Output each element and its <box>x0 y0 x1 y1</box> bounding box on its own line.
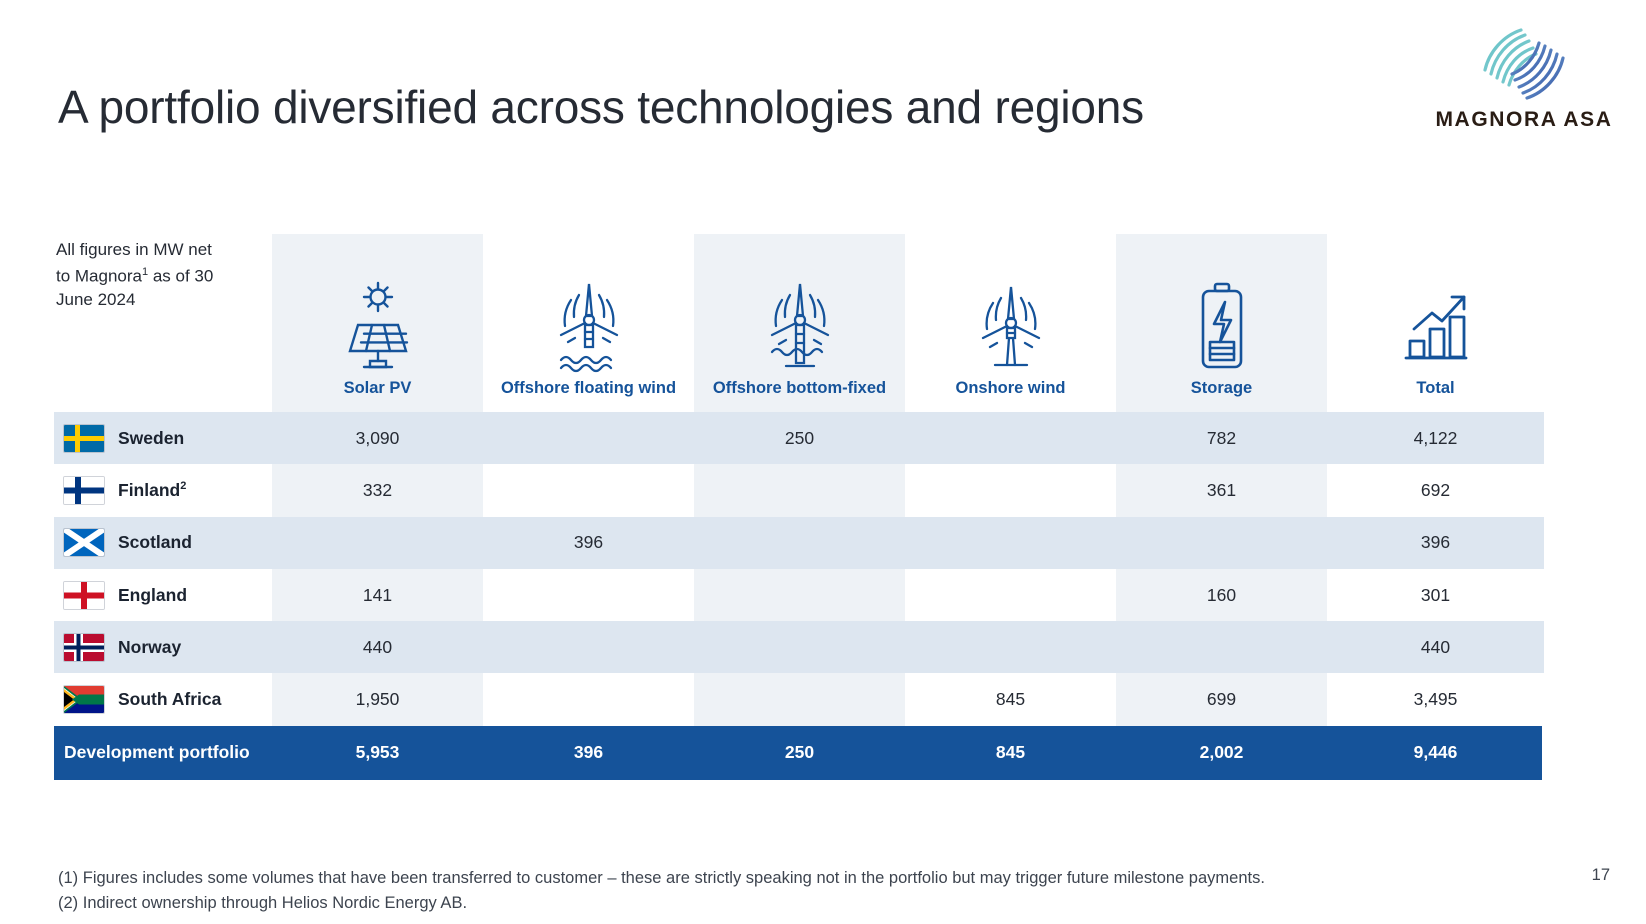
magnora-wing-logo-icon <box>1465 24 1583 104</box>
column-header-label: Solar PV <box>344 379 412 398</box>
column-header-total[interactable]: Total <box>1327 234 1544 412</box>
column-header-onshore-wind[interactable]: Onshore wind <box>905 234 1116 412</box>
cell-storage: 361 <box>1116 464 1327 516</box>
logo-wordmark: MAGNORA ASA <box>1424 108 1624 132</box>
footnote-1: (1) Figures includes some volumes that h… <box>58 866 1265 891</box>
flag-england-icon <box>64 582 104 609</box>
page-number: 17 <box>1592 866 1610 885</box>
caption-line-1: All figures in MW net <box>56 240 212 259</box>
total-row-label: Development portfolio <box>54 726 272 780</box>
portfolio-table: All figures in MW net to Magnora1 as of … <box>54 234 1542 780</box>
cell-offshore-bottom-fixed <box>694 464 905 516</box>
column-header-label: Total <box>1416 379 1454 398</box>
cell-total: 396 <box>1327 517 1544 569</box>
cell-offshore-floating-wind <box>483 464 694 516</box>
cell-onshore-wind <box>905 569 1116 621</box>
cell-solar-pv: 3,090 <box>272 412 483 464</box>
cell-solar-pv: 332 <box>272 464 483 516</box>
cell-onshore-wind <box>905 517 1116 569</box>
country-name: Sweden <box>118 428 184 449</box>
cell-solar-pv: 440 <box>272 621 483 673</box>
cell-storage <box>1116 621 1327 673</box>
row-country-cell: Scotland <box>54 517 272 569</box>
onshore-wind-turbine-icon <box>973 275 1049 379</box>
column-header-offshore-floating-wind[interactable]: Offshore floating wind <box>483 234 694 412</box>
column-header-label: Offshore bottom-fixed <box>713 379 886 398</box>
cell-total: 4,122 <box>1327 412 1544 464</box>
table-row[interactable]: Sweden 3,090 250 782 4,122 <box>54 412 1542 464</box>
flag-norway-icon <box>64 634 104 661</box>
cell-offshore-bottom-fixed <box>694 569 905 621</box>
table-header-row: All figures in MW net to Magnora1 as of … <box>54 234 1542 412</box>
cell-offshore-floating-wind <box>483 621 694 673</box>
total-solar-pv: 5,953 <box>272 726 483 780</box>
cell-offshore-floating-wind <box>483 412 694 464</box>
cell-total: 301 <box>1327 569 1544 621</box>
row-country-cell: Sweden <box>54 412 272 464</box>
row-country-cell: South Africa <box>54 673 272 725</box>
cell-onshore-wind: 845 <box>905 673 1116 725</box>
cell-total: 692 <box>1327 464 1544 516</box>
cell-offshore-bottom-fixed <box>694 621 905 673</box>
table-row[interactable]: Scotland 396 396 <box>54 517 1542 569</box>
caption-line-3: June 2024 <box>56 290 135 309</box>
cell-offshore-bottom-fixed: 250 <box>694 412 905 464</box>
column-header-solar-pv[interactable]: Solar PV <box>272 234 483 412</box>
cell-onshore-wind <box>905 412 1116 464</box>
row-country-cell: England <box>54 569 272 621</box>
cell-offshore-floating-wind: 396 <box>483 517 694 569</box>
total-offshore-floating-wind: 396 <box>483 726 694 780</box>
table-row[interactable]: England 141 160 301 <box>54 569 1542 621</box>
country-name-text: Finland <box>118 480 180 500</box>
cell-offshore-bottom-fixed <box>694 673 905 725</box>
units-caption: All figures in MW net to Magnora1 as of … <box>54 234 272 412</box>
country-footnote-marker: 2 <box>180 480 186 492</box>
caption-line-2b: as of 30 <box>148 267 213 286</box>
cell-onshore-wind <box>905 464 1116 516</box>
total-storage: 2,002 <box>1116 726 1327 780</box>
flag-finland-icon <box>64 477 104 504</box>
caption-line-2a: to Magnora <box>56 267 142 286</box>
footnote-2: (2) Indirect ownership through Helios No… <box>58 891 1265 916</box>
table-row[interactable]: South Africa 1,950 845 699 3,495 <box>54 673 1542 725</box>
flag-scotland-icon <box>64 529 104 556</box>
battery-storage-icon <box>1191 275 1253 379</box>
column-header-label: Onshore wind <box>955 379 1065 398</box>
cell-offshore-floating-wind <box>483 673 694 725</box>
cell-total: 440 <box>1327 621 1544 673</box>
cell-solar-pv: 141 <box>272 569 483 621</box>
cell-storage: 782 <box>1116 412 1327 464</box>
magnora-logo: MAGNORA ASA <box>1424 24 1624 132</box>
total-grand: 9,446 <box>1327 726 1544 780</box>
footnotes: (1) Figures includes some volumes that h… <box>58 866 1265 916</box>
cell-solar-pv <box>272 517 483 569</box>
flag-sweden-icon <box>64 425 104 452</box>
flag-south-africa-icon <box>64 686 104 713</box>
column-header-storage[interactable]: Storage <box>1116 234 1327 412</box>
country-name: Norway <box>118 637 181 658</box>
cell-total: 3,495 <box>1327 673 1544 725</box>
table-row[interactable]: Norway 440 440 <box>54 621 1542 673</box>
country-name: Finland2 <box>118 480 186 501</box>
country-name: England <box>118 585 187 606</box>
row-country-cell: Finland2 <box>54 464 272 516</box>
row-country-cell: Norway <box>54 621 272 673</box>
cell-offshore-bottom-fixed <box>694 517 905 569</box>
column-header-label: Offshore floating wind <box>501 379 676 398</box>
total-onshore-wind: 845 <box>905 726 1116 780</box>
country-name: South Africa <box>118 689 221 710</box>
solar-panel-icon <box>340 275 416 379</box>
column-header-label: Storage <box>1191 379 1252 398</box>
cell-solar-pv: 1,950 <box>272 673 483 725</box>
slide: MAGNORA ASA A portfolio diversified acro… <box>0 0 1646 924</box>
cell-storage: 699 <box>1116 673 1327 725</box>
page-title: A portfolio diversified across technolog… <box>58 80 1144 134</box>
cell-offshore-floating-wind <box>483 569 694 621</box>
table-row[interactable]: Finland2 332 361 692 <box>54 464 1542 516</box>
offshore-floating-wind-turbine-icon <box>551 275 627 379</box>
development-portfolio-total-row[interactable]: Development portfolio 5,953 396 250 845 … <box>54 726 1542 780</box>
growth-bar-chart-icon <box>1396 275 1476 379</box>
offshore-bottom-fixed-wind-turbine-icon <box>762 275 838 379</box>
column-header-offshore-bottom-fixed[interactable]: Offshore bottom-fixed <box>694 234 905 412</box>
cell-storage: 160 <box>1116 569 1327 621</box>
total-offshore-bottom-fixed: 250 <box>694 726 905 780</box>
cell-storage <box>1116 517 1327 569</box>
country-name: Scotland <box>118 532 192 553</box>
cell-onshore-wind <box>905 621 1116 673</box>
